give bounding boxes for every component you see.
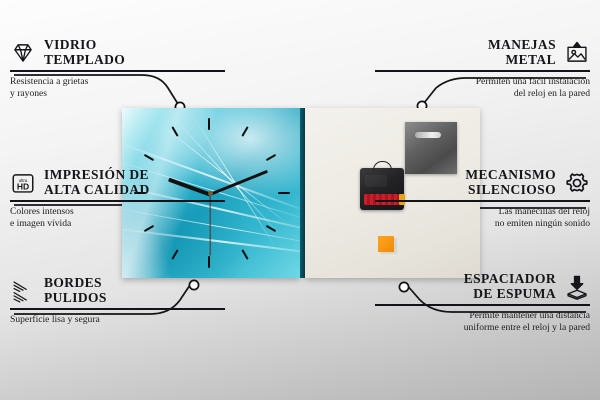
feature-title: MANEJAS METAL bbox=[488, 38, 556, 67]
feature-divider bbox=[10, 70, 225, 72]
clock-tick bbox=[208, 256, 210, 268]
feature-divider bbox=[10, 200, 225, 202]
feature-title: IMPRESIÓN DE ALTA CALIDAD bbox=[44, 168, 150, 197]
ultra-hd-icon: ultra HD bbox=[10, 170, 36, 196]
feature-divider bbox=[375, 200, 590, 202]
feature-divider bbox=[375, 70, 590, 72]
diamond-icon bbox=[10, 40, 36, 66]
feature-description: Permiten una fácil instalación del reloj… bbox=[375, 76, 590, 100]
clock-tick bbox=[278, 192, 290, 194]
hanging-frame-icon bbox=[564, 40, 590, 66]
gear-icon bbox=[564, 170, 590, 196]
orange-foam-spacer bbox=[378, 236, 394, 252]
feature-description: Resistencia a grietas y rayones bbox=[10, 76, 225, 100]
feature-manejas-metal: MANEJAS METAL Permiten una fácil instala… bbox=[375, 38, 590, 100]
clock-tick bbox=[266, 154, 277, 161]
feature-bordes-pulidos: BORDES PULIDOS Superficie lisa y segura bbox=[10, 276, 225, 326]
feature-title: BORDES PULIDOS bbox=[44, 276, 107, 305]
feature-description: Las manecillas del reloj no emiten ningú… bbox=[375, 206, 590, 230]
feature-title: MECANISMO SILENCIOSO bbox=[465, 168, 556, 197]
foam-spacer-icon bbox=[564, 274, 590, 300]
feature-divider bbox=[375, 304, 590, 306]
polished-edges-icon bbox=[10, 278, 36, 304]
metal-hanger-plate bbox=[405, 122, 457, 174]
clock-tick bbox=[208, 118, 210, 130]
feature-title: ESPACIADOR DE ESPUMA bbox=[464, 272, 556, 301]
feature-vidrio-templado: VIDRIO TEMPLADO Resistencia a grietas y … bbox=[10, 38, 225, 100]
clock-tick bbox=[241, 249, 248, 260]
feature-impresion-alta-calidad: ultra HD IMPRESIÓN DE ALTA CALIDAD Color… bbox=[10, 168, 225, 230]
feature-description: Permite mantener una distancia uniforme … bbox=[375, 310, 590, 334]
feature-description: Colores intensos e imagen vívida bbox=[10, 206, 225, 230]
feature-description: Superficie lisa y segura bbox=[10, 314, 225, 326]
clock-tick bbox=[241, 126, 248, 137]
hanger-slot bbox=[415, 132, 441, 138]
feature-title: VIDRIO TEMPLADO bbox=[44, 38, 125, 67]
feature-espaciador-espuma: ESPACIADOR DE ESPUMA Permite mantener un… bbox=[375, 272, 590, 334]
feature-divider bbox=[10, 308, 225, 310]
infographic-canvas: VIDRIO TEMPLADO Resistencia a grietas y … bbox=[0, 0, 600, 400]
feature-mecanismo-silencioso: MECANISMO SILENCIOSO Las manecillas del … bbox=[375, 168, 590, 230]
svg-text:HD: HD bbox=[17, 181, 29, 191]
